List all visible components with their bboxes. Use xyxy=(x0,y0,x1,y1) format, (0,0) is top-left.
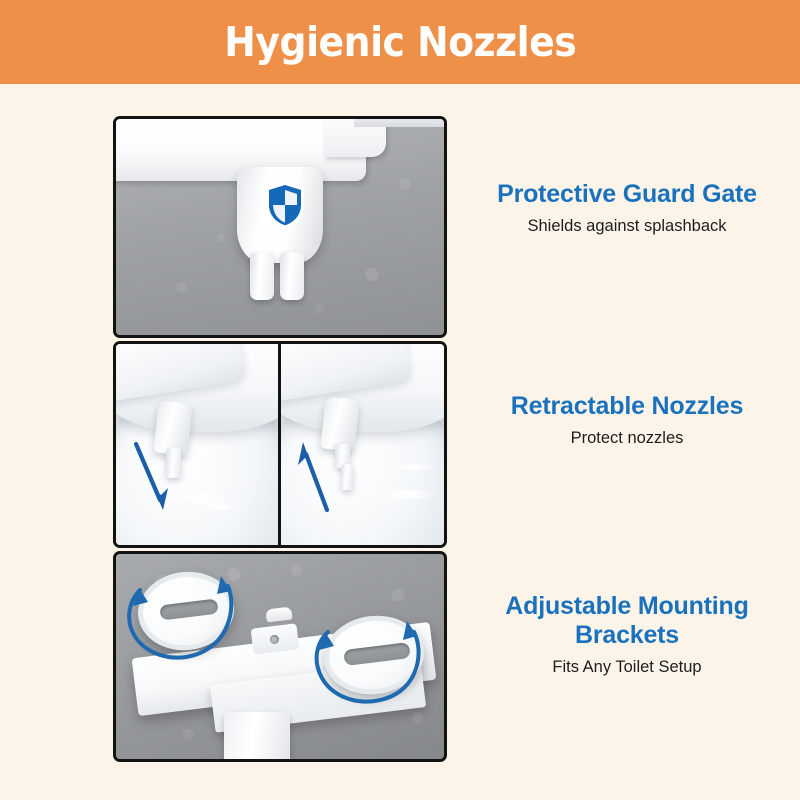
water-streak-left-2 xyxy=(202,504,236,510)
feature-title: Adjustable Mounting Brackets xyxy=(462,592,792,650)
feature-text-retractable-nozzles: Retractable Nozzles Protect nozzles xyxy=(462,392,792,449)
nozzle-tube-right xyxy=(280,252,304,300)
nozzle-tube-left xyxy=(250,252,274,300)
feature-subtitle: Fits Any Toilet Setup xyxy=(462,657,792,678)
content-area: Protective Guard Gate Shields against sp… xyxy=(0,84,800,800)
water-streak-right-2 xyxy=(391,464,435,470)
bracket-stem xyxy=(224,712,290,762)
feature-title: Protective Guard Gate xyxy=(462,180,792,209)
page-title: Hygienic Nozzles xyxy=(224,18,576,66)
arrow-down-icon xyxy=(130,440,176,514)
water-streak-right xyxy=(377,490,435,499)
bracket-knob xyxy=(265,606,292,622)
bidet-seat-strip xyxy=(354,116,447,127)
feature-title: Retractable Nozzles xyxy=(462,392,792,421)
rotate-arrow-icon-right xyxy=(308,602,436,714)
guard-gate-photo xyxy=(116,119,444,335)
shield-icon xyxy=(264,181,306,229)
feature-subtitle: Shields against splashback xyxy=(462,216,792,237)
water-streak-left xyxy=(174,494,230,503)
feature-image-adjustable-mounting-brackets xyxy=(113,551,447,762)
feature-image-protective-guard-gate xyxy=(113,116,447,338)
header-banner: Hygienic Nozzles xyxy=(0,0,800,84)
panel-divider xyxy=(278,344,281,545)
feature-subtitle: Protect nozzles xyxy=(462,428,792,449)
feature-text-protective-guard-gate: Protective Guard Gate Shields against sp… xyxy=(462,180,792,237)
nozzle-retracted-photo xyxy=(116,344,278,545)
nozzle-extended-photo xyxy=(281,344,444,545)
feature-title-line-2: Brackets xyxy=(575,621,679,649)
feature-text-adjustable-mounting-brackets: Adjustable Mounting Brackets Fits Any To… xyxy=(462,592,792,678)
feature-image-retractable-nozzles xyxy=(113,341,447,548)
toilet-bowl-scene-left xyxy=(116,344,278,545)
arrow-up-icon xyxy=(297,438,343,514)
toilet-bowl-scene-right xyxy=(281,344,444,545)
mounting-bracket-photo xyxy=(116,554,444,759)
bracket-screw-head xyxy=(270,635,279,644)
rotate-arrow-icon-left xyxy=(124,558,248,668)
feature-title-line-1: Adjustable Mounting xyxy=(505,592,748,620)
